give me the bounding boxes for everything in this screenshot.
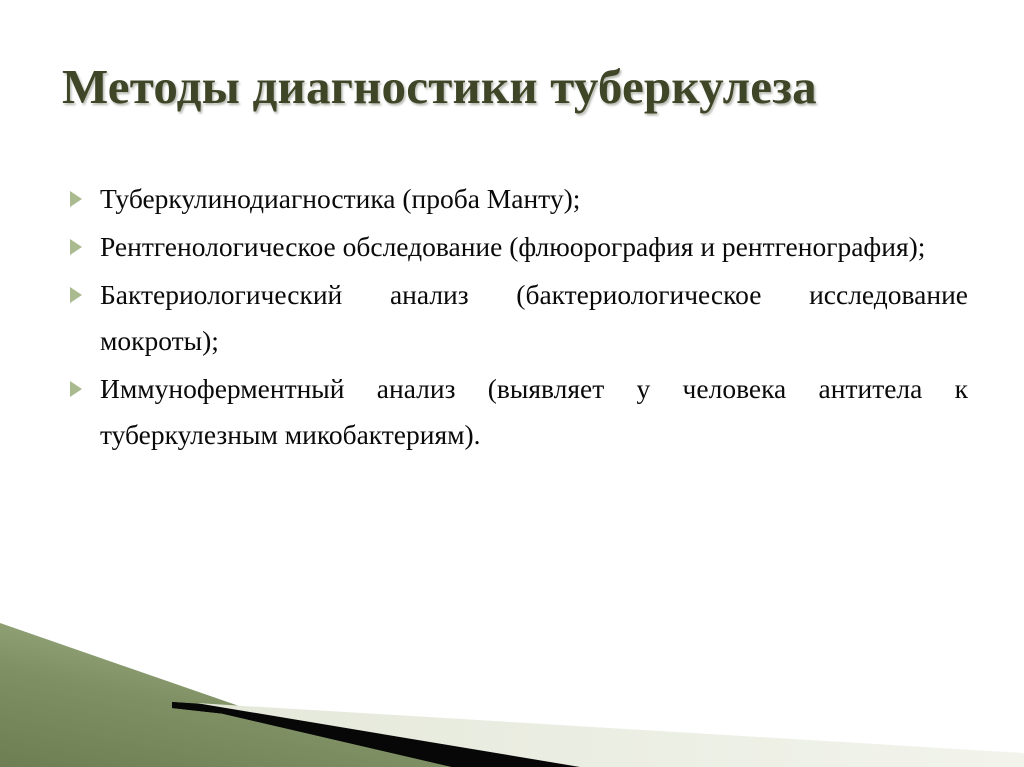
list-item: Бактериологический анализ (бактериологич… bbox=[62, 272, 968, 364]
decor-black-stripe bbox=[172, 702, 1024, 767]
decor-green-wedge-texture bbox=[0, 623, 700, 767]
list-item-label: Иммуноферментный анализ (выявляет у чело… bbox=[100, 366, 968, 458]
decor-pale-band bbox=[196, 703, 1024, 767]
triangle-right-bullet-icon bbox=[70, 239, 82, 255]
page-title: Методы диагностики туберкулеза bbox=[0, 56, 1024, 118]
triangle-right-bullet-icon bbox=[70, 191, 82, 207]
triangle-right-bullet-icon bbox=[70, 287, 82, 303]
list-item-label: Бактериологический анализ (бактериологич… bbox=[100, 272, 968, 364]
decor-black-stripe-upper bbox=[172, 702, 1024, 767]
list-item-label: Туберкулинодиагностика (проба Манту); bbox=[100, 176, 968, 222]
list-item: Иммуноферментный анализ (выявляет у чело… bbox=[62, 366, 968, 458]
list-item-label: Рентгенологическое обследование (флюорог… bbox=[100, 224, 968, 270]
bottom-left-diagonal-banner-decoration bbox=[0, 607, 1024, 767]
bullet-list: Туберкулинодиагностика (проба Манту); Ре… bbox=[62, 176, 968, 460]
list-item: Рентгенологическое обследование (флюорог… bbox=[62, 224, 968, 270]
decor-green-wedge bbox=[0, 623, 700, 767]
decor-black-stripe-main bbox=[172, 702, 700, 767]
title-block: Методы диагностики туберкулеза bbox=[0, 56, 1024, 128]
triangle-right-bullet-icon bbox=[70, 381, 82, 397]
slide-canvas: Методы диагностики туберкулеза Туберкули… bbox=[0, 0, 1024, 767]
list-item: Туберкулинодиагностика (проба Манту); bbox=[62, 176, 968, 222]
